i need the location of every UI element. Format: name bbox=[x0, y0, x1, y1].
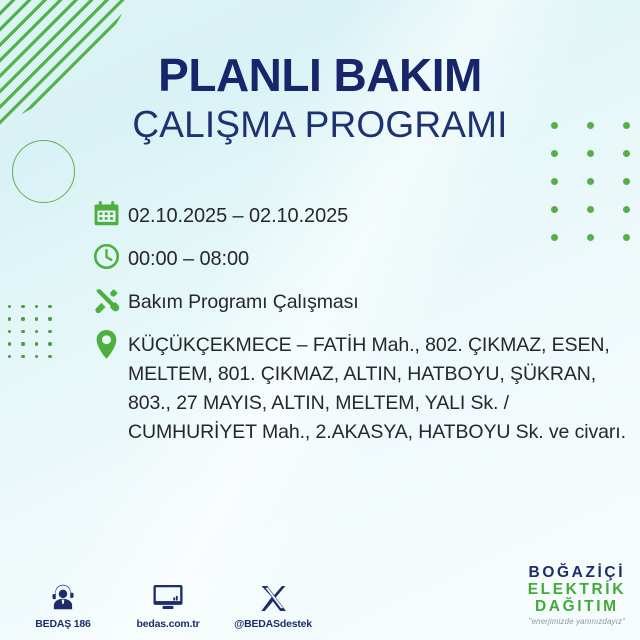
detail-location-text: KÜÇÜKÇEKMECE – FATİH Mah., 802. ÇIKMAZ, … bbox=[128, 327, 636, 447]
brand-tagline: "enerjimizde yanınızdayız" bbox=[528, 617, 626, 626]
location-pin-icon bbox=[84, 327, 128, 359]
detail-date-text: 02.10.2025 – 02.10.2025 bbox=[128, 198, 348, 230]
footer-link-label: @BEDASdestek bbox=[232, 618, 314, 630]
monitor-icon bbox=[127, 578, 209, 612]
maintenance-details: 02.10.2025 – 02.10.2025 00:00 – 08:00 Ba… bbox=[84, 198, 636, 458]
page-header: PLANLI BAKIM ÇALIŞMA PROGRAMI bbox=[0, 52, 640, 147]
x-twitter-icon bbox=[232, 578, 314, 612]
calendar-icon bbox=[84, 198, 128, 227]
brand-line-2: ELEKTRİK bbox=[528, 581, 626, 598]
support-agent-icon bbox=[22, 578, 104, 612]
footer-link-label: bedas.com.tr bbox=[127, 618, 209, 630]
footer-contact-links: BEDAŞ 186 bedas.com.tr @BEDASdestek bbox=[22, 578, 314, 630]
clock-icon bbox=[84, 241, 128, 270]
detail-row-time: 00:00 – 08:00 bbox=[84, 241, 636, 273]
bogazici-elektrik-dagitim-logo: BOĞAZİÇİ ELEKTRİK DAĞITIM "enerjimizde y… bbox=[528, 564, 626, 626]
detail-work-text: Bakım Programı Çalışması bbox=[128, 284, 359, 316]
detail-row-work-type: Bakım Programı Çalışması bbox=[84, 284, 636, 316]
footer-link-call-center[interactable]: BEDAŞ 186 bbox=[22, 578, 104, 630]
footer-link-website[interactable]: bedas.com.tr bbox=[127, 578, 209, 630]
detail-row-location: KÜÇÜKÇEKMECE – FATİH Mah., 802. ÇIKMAZ, … bbox=[84, 327, 636, 447]
circle-outline-decoration bbox=[12, 140, 75, 203]
footer-link-label: BEDAŞ 186 bbox=[22, 618, 104, 630]
tools-icon bbox=[84, 284, 128, 315]
brand-line-3: DAĞITIM bbox=[528, 598, 626, 615]
detail-row-date: 02.10.2025 – 02.10.2025 bbox=[84, 198, 636, 230]
page-footer: BEDAŞ 186 bedas.com.tr @BEDASdestek bbox=[0, 548, 640, 640]
page-title: PLANLI BAKIM bbox=[0, 52, 640, 98]
page-subtitle: ÇALIŞMA PROGRAMI bbox=[0, 104, 640, 147]
brand-line-1: BOĞAZİÇİ bbox=[528, 564, 626, 581]
detail-time-text: 00:00 – 08:00 bbox=[128, 241, 249, 273]
footer-link-x-account[interactable]: @BEDASdestek bbox=[232, 578, 314, 630]
dot-grid-left-decoration bbox=[8, 305, 52, 358]
